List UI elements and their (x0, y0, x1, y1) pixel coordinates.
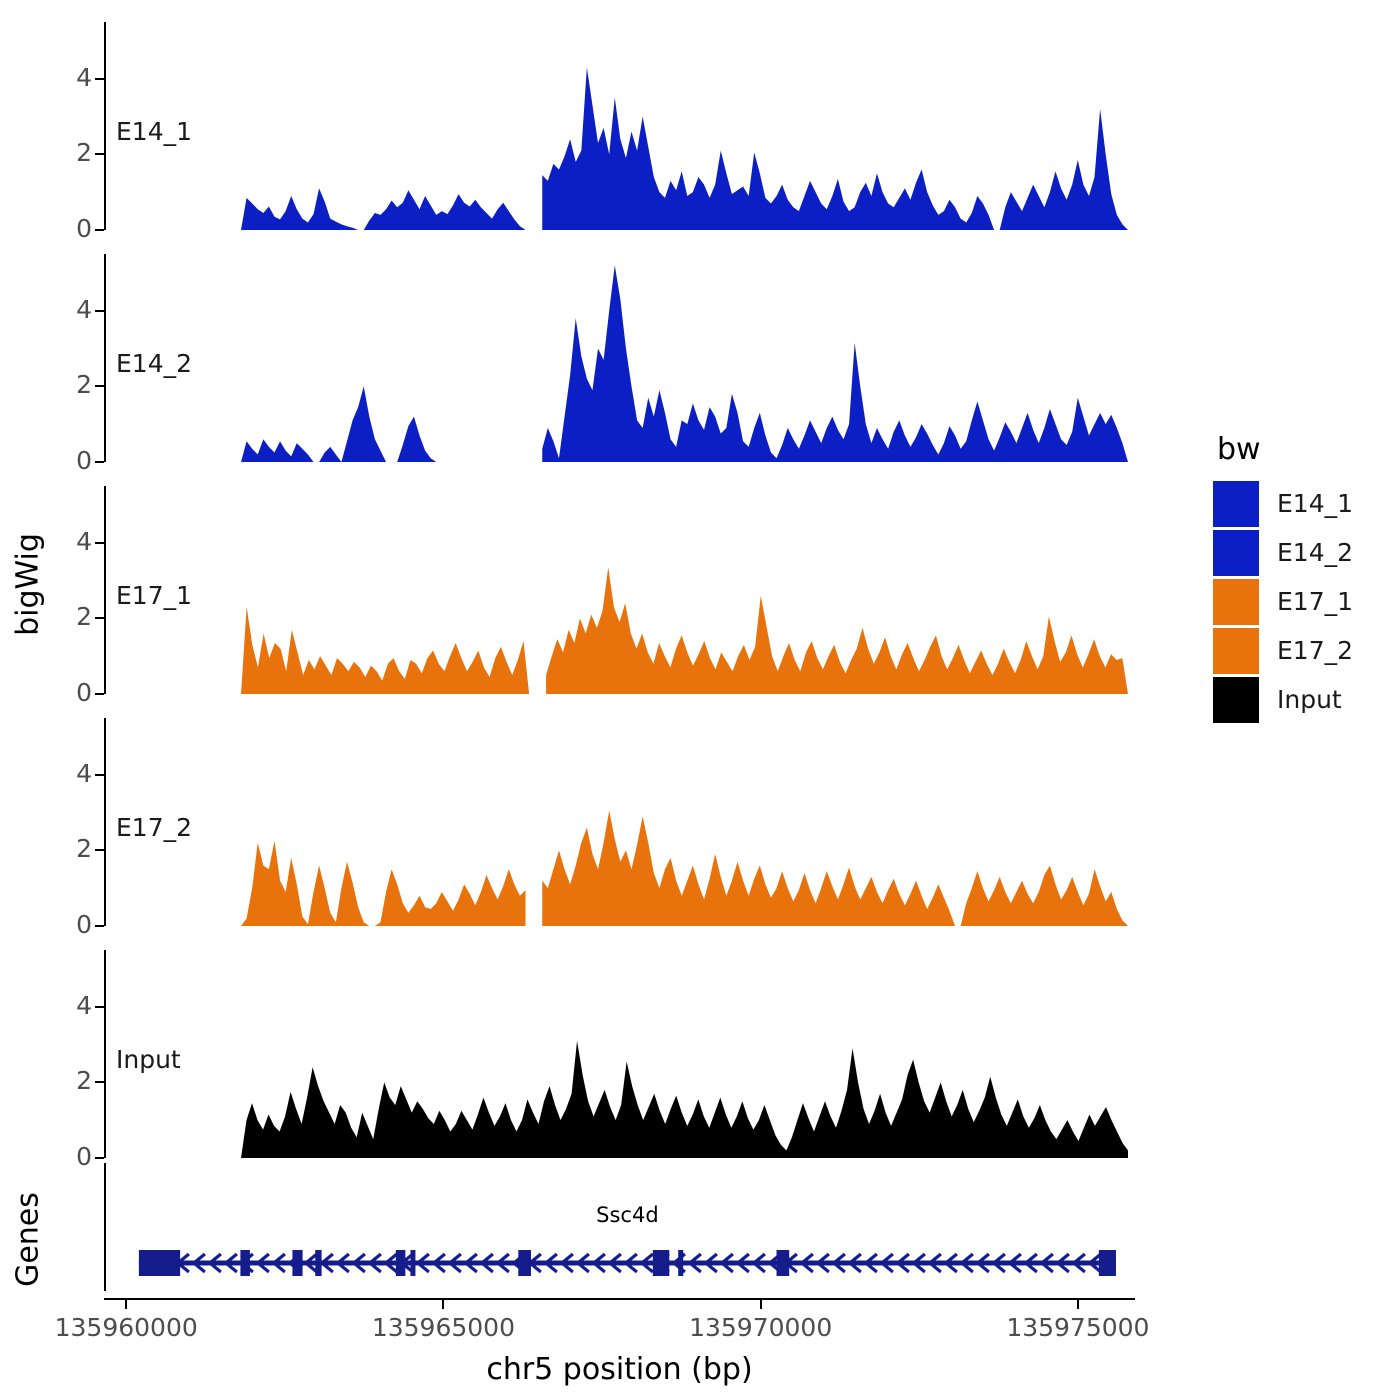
y-tick-label: 2 (52, 834, 92, 863)
y-tick-label: 0 (52, 678, 92, 707)
genes-panel: Ssc4d (104, 1163, 1135, 1293)
track-panel-e17_2: 024E17_2 (104, 718, 1134, 926)
gene-model (104, 1163, 1135, 1291)
x-tick (1077, 1300, 1079, 1309)
legend-item-label: E14_1 (1277, 489, 1353, 518)
y-tick-label: 0 (52, 446, 92, 475)
legend-item-input[interactable]: Input (1213, 675, 1393, 724)
gene-exon (518, 1250, 531, 1276)
y-tick (95, 925, 104, 927)
legend-item-label: Input (1277, 685, 1342, 714)
genes-axis-line (104, 1163, 106, 1291)
legend-title: bw (1217, 432, 1393, 467)
y-tick (95, 461, 104, 463)
y-tick-label: 2 (52, 602, 92, 631)
y-tick-label: 2 (52, 1066, 92, 1095)
legend-item-e17_1[interactable]: E17_1 (1213, 577, 1393, 626)
track-area-input (106, 950, 1137, 1158)
track-panel-input: 024Input (104, 950, 1134, 1158)
legend-item-e14_1[interactable]: E14_1 (1213, 479, 1393, 528)
y-tick-label: 2 (52, 138, 92, 167)
track-panel-e17_1: 024E17_1 (104, 486, 1134, 694)
x-tick-label: 135970000 (631, 1313, 891, 1342)
y-tick (95, 1081, 104, 1083)
y-tick-label: 4 (52, 991, 92, 1020)
genome-browser-figure: bigWig Genes 024E14_1024E14_2024E17_1024… (0, 0, 1400, 1400)
y-tick (95, 774, 104, 776)
x-tick (125, 1300, 127, 1309)
legend-swatch-icon (1213, 579, 1259, 625)
track-area-e17_1 (106, 486, 1137, 694)
track-area-e14_2 (106, 254, 1137, 462)
y-tick (95, 78, 104, 80)
legend-swatch-icon (1213, 677, 1259, 723)
legend-item-label: E14_2 (1277, 538, 1353, 567)
legend-swatch-icon (1213, 481, 1259, 527)
y-tick (95, 153, 104, 155)
y-tick (95, 542, 104, 544)
y-tick-label: 0 (52, 910, 92, 939)
track-panel-e14_2: 024E14_2 (104, 254, 1134, 462)
track-area-e14_1 (106, 22, 1137, 230)
legend-item-label: E17_1 (1277, 587, 1353, 616)
y-tick (95, 310, 104, 312)
legend-item-label: E17_2 (1277, 636, 1353, 665)
y-tick-label: 4 (52, 295, 92, 324)
gene-exon (139, 1250, 180, 1276)
track-area-e17_2 (106, 718, 1137, 926)
legend-item-e17_2[interactable]: E17_2 (1213, 626, 1393, 675)
y-tick (95, 849, 104, 851)
y-tick (95, 229, 104, 231)
x-tick (760, 1300, 762, 1309)
legend: bw E14_1E14_2E17_1E17_2Input (1213, 432, 1393, 724)
y-tick-label: 4 (52, 527, 92, 556)
y-tick-label: 4 (52, 759, 92, 788)
y-tick-label: 2 (52, 370, 92, 399)
y-tick (95, 617, 104, 619)
legend-items: E14_1E14_2E17_1E17_2Input (1213, 479, 1393, 724)
legend-swatch-icon (1213, 530, 1259, 576)
gene-exon (292, 1250, 302, 1276)
y-tick (95, 385, 104, 387)
gene-exon (410, 1250, 415, 1276)
genes-axis-title: Genes (11, 1160, 46, 1320)
y-tick (95, 1157, 104, 1159)
x-tick-label: 135965000 (313, 1313, 573, 1342)
y-tick-label: 0 (52, 1142, 92, 1171)
y-tick-label: 4 (52, 63, 92, 92)
track-panel-e14_1: 024E14_1 (104, 22, 1134, 230)
x-tick-label: 135960000 (0, 1313, 256, 1342)
x-axis-title: chr5 position (bp) (104, 1352, 1135, 1387)
gene-name-label: Ssc4d (477, 1203, 777, 1227)
y-tick (95, 1006, 104, 1008)
legend-swatch-icon (1213, 628, 1259, 674)
gene-exon (777, 1250, 790, 1276)
gene-exon (396, 1250, 406, 1276)
legend-item-e14_2[interactable]: E14_2 (1213, 528, 1393, 577)
y-axis-title: bigWig (11, 495, 46, 675)
y-tick (95, 693, 104, 695)
x-axis-line (104, 1298, 1135, 1300)
gene-exon (1099, 1250, 1116, 1276)
x-tick-label: 135975000 (948, 1313, 1208, 1342)
x-tick (442, 1300, 444, 1309)
y-tick-label: 0 (52, 214, 92, 243)
gene-exon (678, 1250, 683, 1276)
gene-exon (653, 1250, 669, 1276)
gene-exon (240, 1250, 250, 1276)
gene-exon (315, 1250, 321, 1276)
